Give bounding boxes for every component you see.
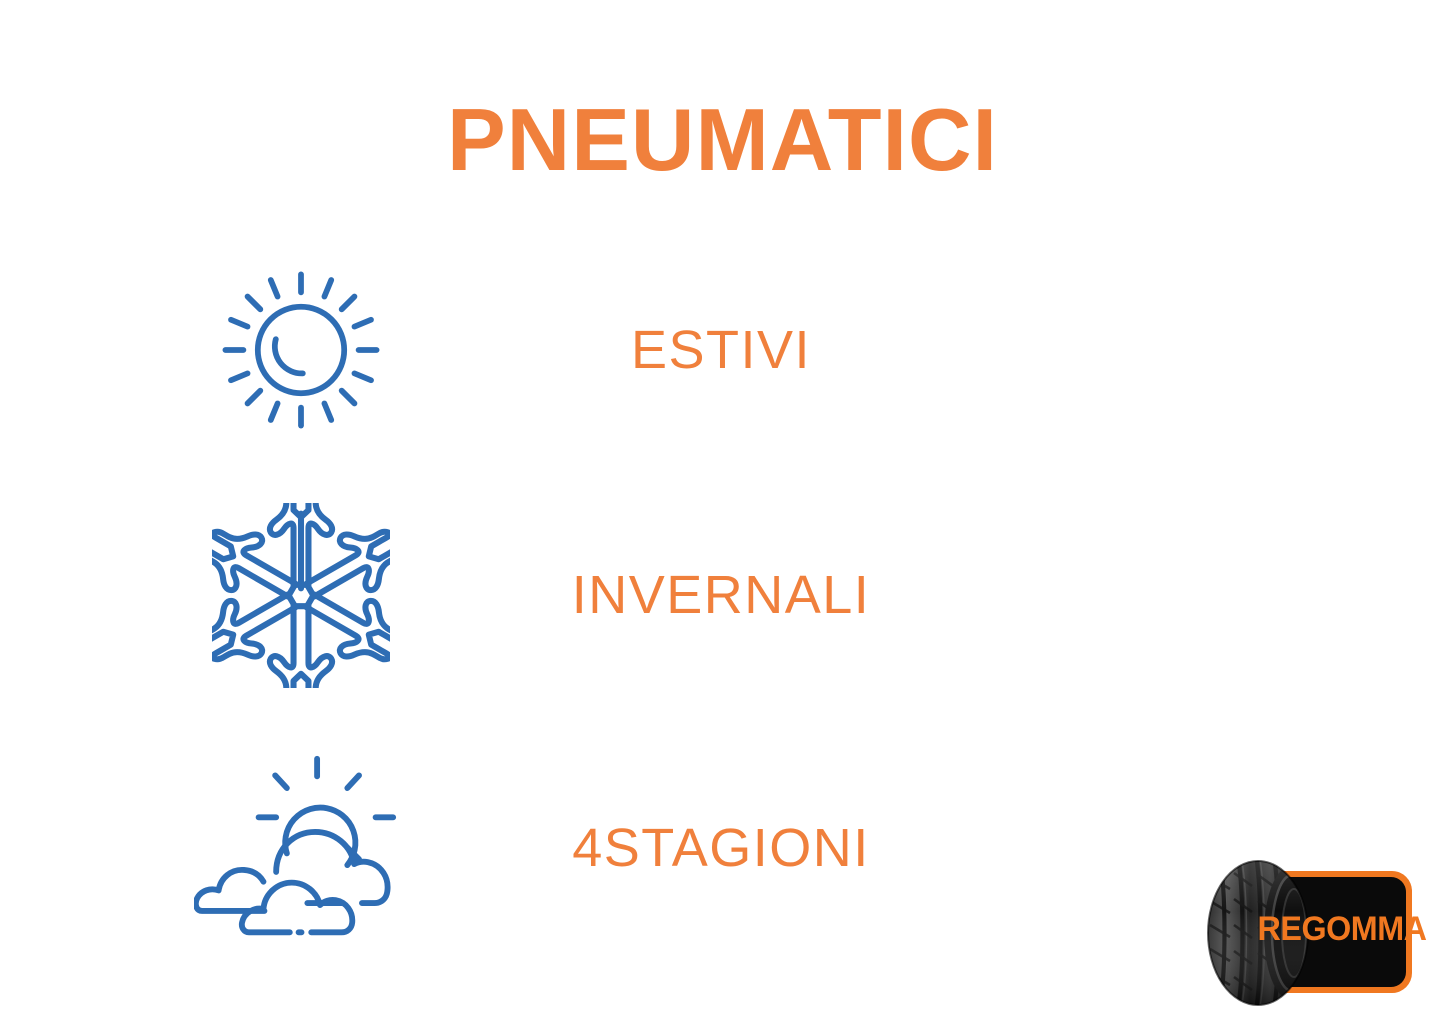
sun-icon bbox=[186, 250, 416, 450]
page-title: PNEUMATICI bbox=[0, 96, 1445, 184]
season-label: 4STAGIONI bbox=[572, 817, 870, 879]
tyre-type-label-winter: INVERNALI bbox=[436, 495, 1006, 695]
tyre-type-row-winter: INVERNALI bbox=[0, 495, 1445, 695]
poster-canvas: PNEUMATICI bbox=[0, 0, 1445, 1022]
snowflake-icon bbox=[186, 495, 416, 695]
season-label: ESTIVI bbox=[631, 319, 811, 381]
tyre-type-label-all-season: 4STAGIONI bbox=[436, 748, 1006, 948]
tyre-type-row-summer: ESTIVI bbox=[0, 250, 1445, 450]
regomma-logo: REGOMMA bbox=[1186, 849, 1428, 1015]
sun-behind-clouds-icon bbox=[186, 748, 416, 948]
season-label: INVERNALI bbox=[572, 564, 871, 626]
tyre-type-label-summer: ESTIVI bbox=[436, 250, 1006, 450]
